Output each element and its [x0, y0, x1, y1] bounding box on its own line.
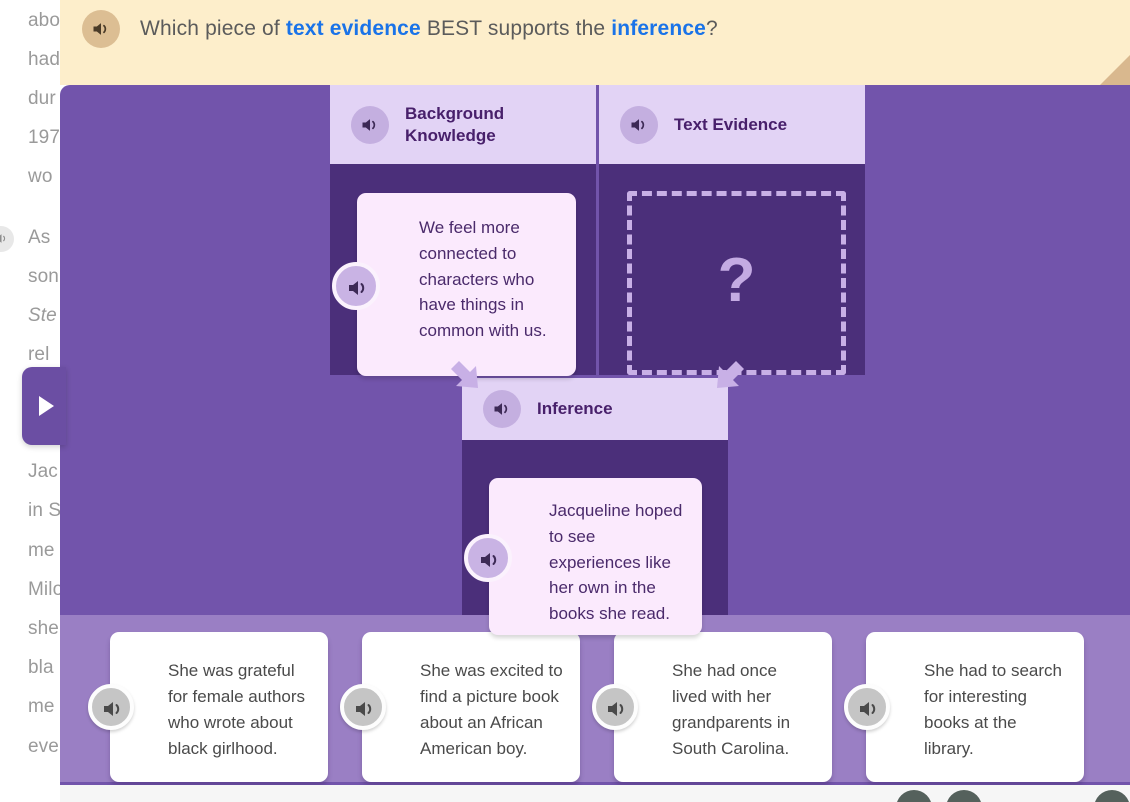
- speaker-icon[interactable]: [82, 10, 120, 48]
- passage-line: me: [28, 540, 55, 562]
- text-evidence-dropzone[interactable]: ?: [627, 191, 846, 375]
- banner-fold-corner: [1100, 55, 1130, 85]
- question-link-inference[interactable]: inference: [611, 17, 706, 40]
- passage-line: abo: [28, 10, 60, 32]
- speaker-icon[interactable]: [351, 106, 389, 144]
- passage-line: dur: [28, 88, 56, 110]
- answer-option-text: She had to search for interesting books …: [924, 661, 1062, 758]
- passage-speaker-icon[interactable]: [0, 226, 14, 252]
- speaker-icon[interactable]: [844, 684, 890, 730]
- passage-line: wo: [28, 166, 53, 188]
- question-middle: BEST supports the: [421, 17, 611, 40]
- background-knowledge-card-text: We feel more connected to characters who…: [419, 218, 547, 340]
- background-knowledge-column: Background Knowledge We feel more connec…: [330, 85, 596, 375]
- arrow-down-right-icon: [445, 357, 485, 397]
- passage-line: had: [28, 49, 60, 71]
- speaker-icon[interactable]: [332, 262, 380, 310]
- passage-line: rel: [28, 344, 49, 366]
- inference-title: Inference: [537, 398, 613, 420]
- answer-options-tray: She was grateful for female authors who …: [60, 615, 1130, 782]
- answer-option-text: She was grateful for female authors who …: [168, 661, 305, 758]
- speaker-icon[interactable]: [88, 684, 134, 730]
- passage-line: eve: [28, 736, 59, 758]
- background-knowledge-header: Background Knowledge: [330, 85, 596, 164]
- passage-line: bla: [28, 657, 54, 679]
- inference-card[interactable]: Jacqueline hoped to see experiences like…: [489, 478, 702, 635]
- text-evidence-header: Text Evidence: [599, 85, 865, 164]
- speaker-icon[interactable]: [464, 534, 512, 582]
- speaker-icon[interactable]: [340, 684, 386, 730]
- bottom-left-strip: [0, 785, 60, 802]
- inference-card-text: Jacqueline hoped to see experiences like…: [549, 501, 682, 623]
- passage-line: she: [28, 618, 59, 640]
- app-root: abo had dur 197 wo As son Ste rel Jac in…: [0, 0, 1130, 802]
- passage-line: Milo: [28, 579, 63, 601]
- passage-line: son: [28, 266, 59, 288]
- answer-option[interactable]: She was grateful for female authors who …: [110, 632, 328, 782]
- speaker-icon[interactable]: [592, 684, 638, 730]
- question-banner: Which piece of text evidence BEST suppor…: [60, 0, 1130, 85]
- speaker-icon[interactable]: [620, 106, 658, 144]
- dropzone-question-mark: ?: [718, 250, 756, 312]
- inference-header: Inference: [462, 378, 728, 440]
- passage-line: 197: [28, 127, 60, 149]
- passage-line: me: [28, 696, 55, 718]
- background-knowledge-card[interactable]: We feel more connected to characters who…: [357, 193, 576, 376]
- answer-option-text: She had once lived with her grandparents…: [672, 661, 790, 758]
- answer-option[interactable]: She had once lived with her grandparents…: [614, 632, 832, 782]
- answer-option[interactable]: She had to search for interesting books …: [866, 632, 1084, 782]
- question-prefix: Which piece of: [140, 17, 286, 40]
- question-suffix: ?: [706, 17, 718, 40]
- background-knowledge-title: Background Knowledge: [405, 103, 596, 147]
- question-text: Which piece of text evidence BEST suppor…: [140, 17, 718, 41]
- passage-line: As: [28, 227, 50, 249]
- passage-line: in S: [28, 500, 61, 522]
- play-triangle-icon: [39, 396, 54, 416]
- speaker-icon[interactable]: [483, 390, 521, 428]
- passage-line: Ste: [28, 305, 57, 327]
- text-evidence-column: Text Evidence ?: [599, 85, 865, 375]
- answer-option-text: She was excited to find a picture book a…: [420, 661, 563, 758]
- expand-passage-button[interactable]: [22, 367, 66, 445]
- passage-line: Jac: [28, 461, 58, 483]
- text-evidence-title: Text Evidence: [674, 114, 787, 136]
- question-link-text-evidence[interactable]: text evidence: [286, 17, 421, 40]
- evidence-columns: Background Knowledge We feel more connec…: [330, 85, 865, 375]
- arrow-down-left-icon: [710, 357, 750, 397]
- answer-option[interactable]: She was excited to find a picture book a…: [362, 632, 580, 782]
